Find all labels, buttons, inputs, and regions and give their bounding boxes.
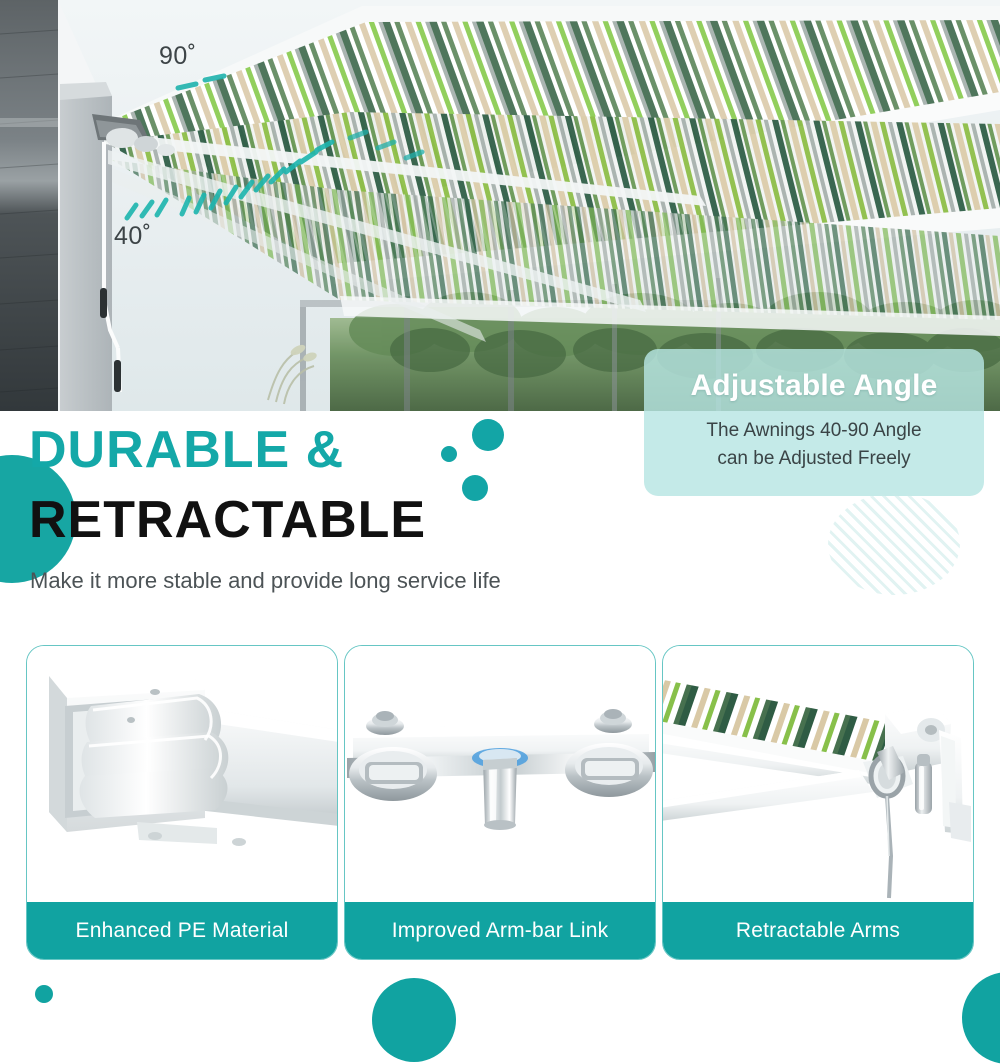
feature-card-enhanced-pe-material[interactable]: Enhanced PE Material bbox=[26, 645, 338, 960]
feature-card-image-pe-material bbox=[27, 646, 337, 904]
infographic-canvas: 90˚ 40˚ Adjustable Angle The Awnings 40-… bbox=[0, 0, 1000, 1000]
feature-card-image-arm-bar-link bbox=[345, 646, 655, 904]
feature-card-caption-2: Retractable Arms bbox=[663, 902, 973, 959]
decorative-bottom-dot-small bbox=[35, 985, 53, 1003]
feature-card-row: Enhanced PE Material bbox=[0, 645, 1000, 960]
headline-line-1: DURABLE & bbox=[29, 420, 344, 480]
decorative-hatched-circle bbox=[828, 493, 960, 595]
angle-label-40: 40˚ bbox=[114, 222, 152, 251]
callout-title: Adjustable Angle bbox=[644, 369, 984, 403]
decorative-dot-medium bbox=[462, 475, 488, 501]
feature-card-caption-1: Improved Arm-bar Link bbox=[345, 902, 655, 959]
decorative-bottom-circle-center bbox=[372, 978, 456, 1062]
feature-card-retractable-arms[interactable]: Retractable Arms bbox=[662, 645, 974, 960]
feature-card-caption-0: Enhanced PE Material bbox=[27, 902, 337, 959]
decorative-dot-large bbox=[472, 419, 504, 451]
decorative-dot-small bbox=[441, 446, 457, 462]
headline-subtitle: Make it more stable and provide long ser… bbox=[30, 568, 501, 594]
feature-card-image-retractable-arms bbox=[663, 646, 973, 904]
adjustable-angle-callout: Adjustable Angle The Awnings 40-90 Angle… bbox=[644, 349, 984, 496]
angle-label-90: 90˚ bbox=[159, 42, 197, 71]
callout-body-line-2: can be Adjusted Freely bbox=[644, 445, 984, 473]
headline-line-2: RETRACTABLE bbox=[29, 490, 426, 550]
decorative-bottom-circle-right bbox=[962, 972, 1000, 1064]
callout-body: The Awnings 40-90 Angle can be Adjusted … bbox=[644, 417, 984, 472]
feature-card-improved-arm-bar-link[interactable]: Improved Arm-bar Link bbox=[344, 645, 656, 960]
callout-body-line-1: The Awnings 40-90 Angle bbox=[644, 417, 984, 445]
